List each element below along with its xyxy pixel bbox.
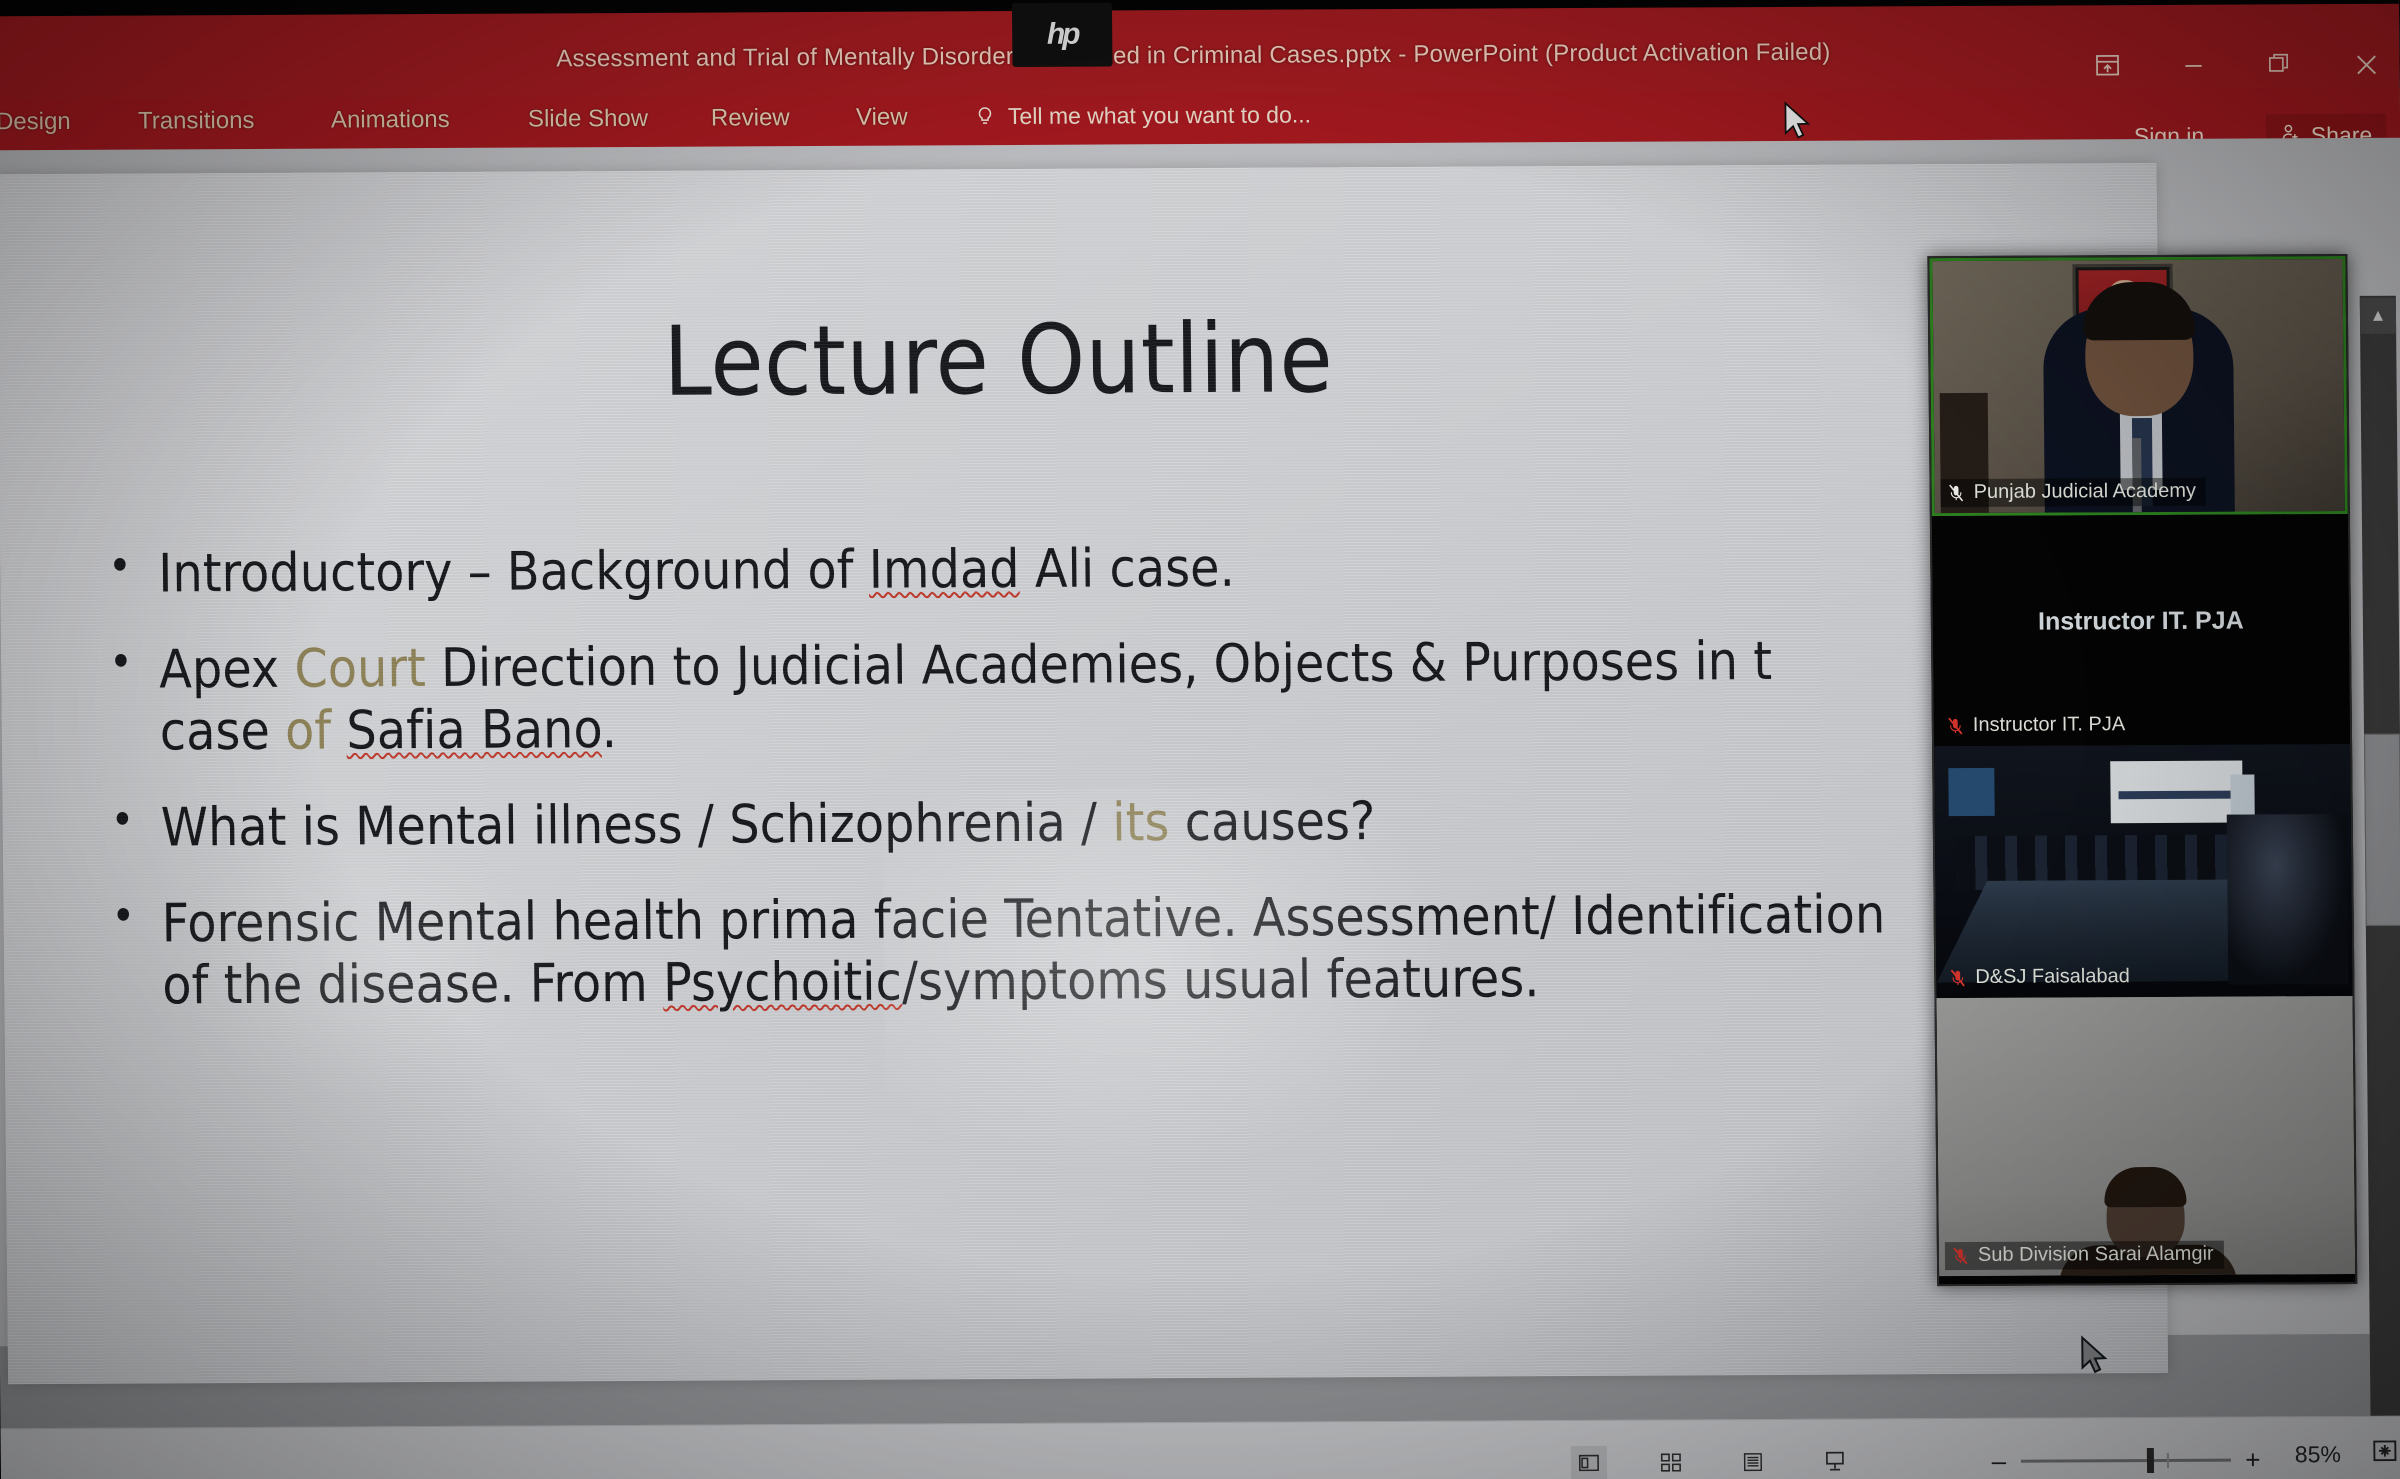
zoom-slider-track[interactable] [2021,1458,2231,1462]
powerpoint-title-bar: Assessment and Trial of Mentally Disorde… [0,4,2400,109]
scroll-up-arrow-icon[interactable]: ▲ [2360,298,2396,334]
bullet-2-seg-2: Court [294,638,426,700]
tile-2-name-text: Instructor IT. PJA [1973,713,2125,737]
tile-1-name-text: Punjab Judicial Academy [1974,480,2197,504]
hp-logo-text: hp [1047,18,1078,52]
slide-title: Lecture Outline [0,299,1999,421]
normal-view-button[interactable] [1571,1446,1607,1479]
video-tile-punjab-judicial-academy[interactable]: Punjab Judicial Academy [1929,256,2347,516]
bullet-2-seg-1: Apex [159,639,295,701]
video-tile-instructor-it-pja[interactable]: Instructor IT. PJA Instructor IT. PJA [1932,514,2350,746]
bullet-2-seg-3: Direction to Judicial Academies, Objects… [426,631,1773,699]
zoom-in-button[interactable]: + [2243,1446,2263,1472]
tab-review[interactable]: Review [711,104,790,132]
mic-muted-icon [1946,714,1965,736]
zoom-slider[interactable]: – + [1989,1446,2263,1473]
tile-3-audience [2227,814,2349,985]
ribbon-display-options-icon[interactable] [2093,51,2123,81]
tile-3-name-label: D&SJ Faisalabad [1942,963,2140,992]
fit-to-window-icon[interactable] [2371,1437,2399,1470]
slide-body-placeholder[interactable]: Introductory – Background of Imdad Ali c… [100,534,1935,1052]
tile-3-projector-screen [1948,768,1994,816]
mic-muted-icon [1951,1244,1970,1266]
bullet-3-seg-1: What is Mental illness / Schizophrenia / [160,792,1112,858]
video-tile-dsj-faisalabad[interactable]: D&SJ Faisalabad [1934,744,2352,998]
bullet-2-seg-5: of [285,700,347,761]
mic-muted-icon [1948,966,1967,988]
hp-logo: hp [1012,2,1113,67]
bullet-4-seg-3: /symptoms usual features. [902,948,1540,1012]
mic-muted-icon [1947,481,1966,503]
tab-slide-show[interactable]: Slide Show [528,105,648,134]
lightbulb-icon [973,101,995,127]
bullet-item-2: Apex Court Direction to Judicial Academi… [101,630,1932,764]
tile-4-name-text: Sub Division Sarai Alamgir [1978,1243,2214,1267]
vertical-scrollbar-thumb[interactable] [2364,734,2400,926]
bullet-2-misspelled-word: Safia Bano [346,699,602,761]
photographed-screen: Assessment and Trial of Mentally Disorde… [0,0,2400,1479]
tile-2-center-name: Instructor IT. PJA [1933,606,2349,637]
zoom-out-button[interactable]: – [1989,1448,2009,1474]
reading-view-button[interactable] [1735,1445,1771,1479]
zoom-slider-thumb[interactable] [2147,1448,2154,1473]
zoom-slider-midpoint-tick [2167,1452,2169,1467]
bullet-3-seg-3: causes? [1169,791,1376,853]
tab-design[interactable]: Design [0,108,71,136]
window-controls [2093,50,2381,82]
bullet-2-seg-7: . [601,699,617,760]
window-title: Assessment and Trial of Mentally Disorde… [0,36,2400,77]
tell-me-search[interactable]: Tell me what you want to do... [1008,101,1311,130]
bullet-1-misspelled-word: Imdad [869,539,1020,601]
slide-show-view-button[interactable] [1817,1445,1853,1479]
tile-3-name-text: D&SJ Faisalabad [1975,965,2130,989]
screen-surface: Assessment and Trial of Mentally Disorde… [0,0,2400,1479]
bullet-1-seg-3: Ali case. [1019,538,1235,600]
bullet-3-seg-2: its [1112,792,1170,853]
minimize-icon[interactable] [2179,51,2209,81]
view-buttons [1571,1445,1853,1479]
tile-1-name-label: Punjab Judicial Academy [1941,478,2207,507]
bullet-4-misspelled-word: Psychoitic [663,952,902,1014]
bullet-item-4: Forensic Mental health prima facie Tenta… [103,884,1934,1018]
restore-icon[interactable] [2265,50,2295,80]
status-bar: – + 85% [1,1416,2400,1479]
tile-4-name-label: Sub Division Sarai Alamgir [1945,1241,2224,1270]
tab-animations[interactable]: Animations [331,106,450,135]
tab-view[interactable]: View [856,104,908,132]
tile-2-name-label: Instructor IT. PJA [1940,711,2136,740]
slide-canvas[interactable]: Lecture Outline Introductory – Backgroun… [0,163,2168,1384]
tab-transitions[interactable]: Transitions [138,107,255,136]
video-conference-panel[interactable]: Punjab Judicial Academy Instructor IT. P… [1927,254,2357,1286]
tile-3-stage-banner [2110,761,2243,824]
video-tile-sub-division-sarai-alamgir[interactable]: Sub Division Sarai Alamgir [1936,996,2355,1276]
bullet-item-3: What is Mental illness / Schizophrenia /… [102,788,1933,860]
slide-sorter-view-button[interactable] [1653,1445,1689,1479]
bullet-2-seg-4: case [160,701,286,763]
close-icon[interactable] [2351,50,2381,80]
bullet-1-seg-1: Introductory – Background of [158,540,869,605]
zoom-percent-label[interactable]: 85% [2295,1441,2341,1468]
bullet-item-1: Introductory – Background of Imdad Ali c… [100,534,1931,606]
